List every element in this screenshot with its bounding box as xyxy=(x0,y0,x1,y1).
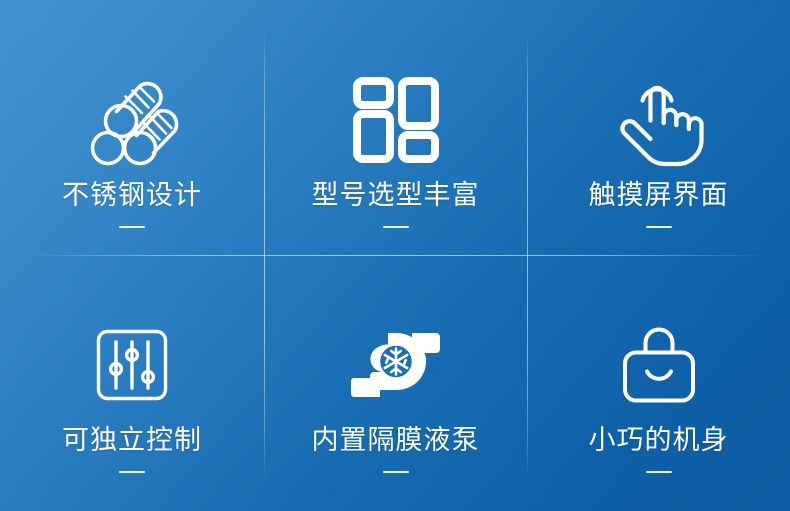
handbag-icon xyxy=(611,317,707,413)
feature-card-rich-model-selection[interactable]: 型号选型丰富 xyxy=(264,0,527,255)
sliders-panel-icon xyxy=(84,317,180,413)
feature-label: 内置隔膜液泵 xyxy=(312,427,480,454)
stacked-pipes-icon xyxy=(84,72,180,168)
feature-underline xyxy=(119,471,145,473)
feature-card-compact-body[interactable]: 小巧的机身 xyxy=(527,255,790,511)
feature-card-stainless-steel-design[interactable]: 不锈钢设计 xyxy=(0,0,264,255)
feature-underline xyxy=(119,226,145,228)
feature-label: 小巧的机身 xyxy=(589,427,729,454)
feature-label: 触摸屏界面 xyxy=(589,182,729,209)
feature-card-independent-control[interactable]: 可独立控制 xyxy=(0,255,264,511)
feature-underline xyxy=(383,226,409,228)
feature-label: 不锈钢设计 xyxy=(62,182,202,209)
feature-underline xyxy=(383,471,409,473)
grid-blocks-icon xyxy=(348,72,444,168)
feature-underline xyxy=(646,226,672,228)
features-grid: 不锈钢设计 型号选型丰富 xyxy=(0,0,790,511)
feature-grid-panel: 不锈钢设计 型号选型丰富 xyxy=(0,0,790,511)
touch-hand-icon xyxy=(611,72,707,168)
turbo-pump-icon xyxy=(348,317,444,413)
feature-label: 型号选型丰富 xyxy=(312,182,480,209)
feature-underline xyxy=(646,471,672,473)
feature-card-touchscreen-interface[interactable]: 触摸屏界面 xyxy=(527,0,790,255)
feature-label: 可独立控制 xyxy=(62,427,202,454)
feature-card-built-in-diaphragm-pump[interactable]: 内置隔膜液泵 xyxy=(264,255,527,511)
